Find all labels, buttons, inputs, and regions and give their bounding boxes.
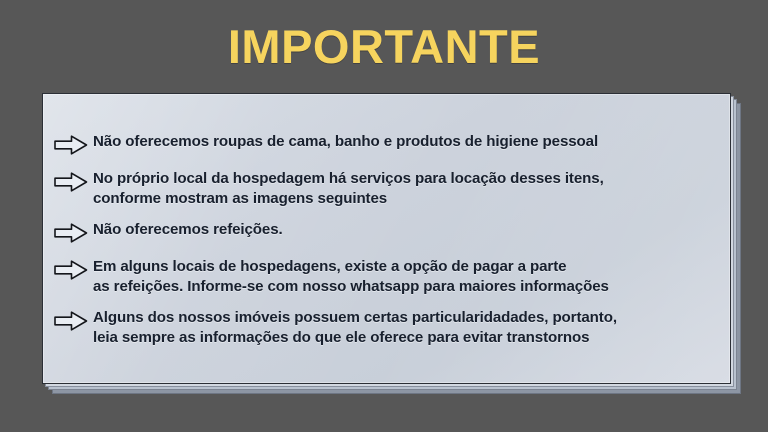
right-arrow-icon (51, 221, 91, 245)
list-item-text: Em alguns locais de hospedagens, existe … (93, 257, 609, 296)
right-arrow-icon (51, 309, 91, 333)
list-item-text: Não oferecemos refeições. (93, 220, 283, 240)
list-item: Não oferecemos refeições. (51, 220, 724, 245)
content-panel: Não oferecemos roupas de cama, banho e p… (42, 93, 731, 384)
list-item: No próprio local da hospedagem há serviç… (51, 169, 724, 208)
right-arrow-icon (51, 258, 91, 282)
list-item: Em alguns locais de hospedagens, existe … (51, 257, 724, 296)
list-item-text: No próprio local da hospedagem há serviç… (93, 169, 604, 208)
list-item-text: Não oferecemos roupas de cama, banho e p… (93, 132, 598, 152)
bullet-list: Não oferecemos roupas de cama, banho e p… (51, 132, 724, 347)
list-item: Não oferecemos roupas de cama, banho e p… (51, 132, 724, 157)
page-title: IMPORTANTE (0, 21, 768, 73)
right-arrow-icon (51, 170, 91, 194)
right-arrow-icon (51, 133, 91, 157)
list-item-text: Alguns dos nossos imóveis possuem certas… (93, 308, 617, 347)
list-item: Alguns dos nossos imóveis possuem certas… (51, 308, 724, 347)
content-panel-stack: Não oferecemos roupas de cama, banho e p… (42, 93, 731, 384)
slide-canvas: IMPORTANTE Não oferecemos roupas de cama… (0, 0, 768, 432)
